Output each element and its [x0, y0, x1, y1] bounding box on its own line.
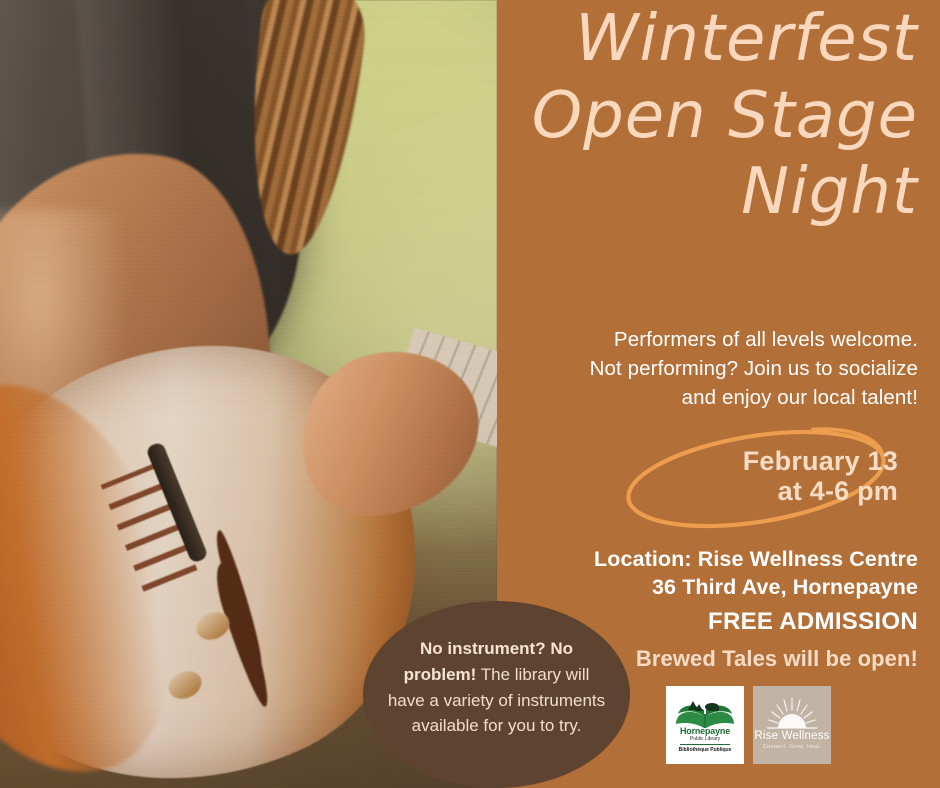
library-divider: [680, 744, 730, 745]
event-poster: Winterfest Open Stage Night Performers o…: [0, 0, 940, 788]
poster-title: Winterfest Open Stage Night: [498, 8, 918, 224]
blurb-line-2: Not performing? Join us to socialize: [518, 354, 918, 383]
wellness-tagline: Connect. Grow. Heal.: [753, 744, 831, 750]
location-line-1: Location: Rise Wellness Centre: [508, 546, 918, 574]
sponsor-logos: Hornepayne Public Library Bibliothèque P…: [666, 686, 918, 764]
rise-wellness-logo: Rise Wellness Connect. Grow. Heal.: [753, 686, 831, 764]
event-blurb: Performers of all levels welcome. Not pe…: [518, 325, 918, 412]
blurb-line-1: Performers of all levels welcome.: [518, 325, 918, 354]
title-line-2: Open Stage: [498, 85, 918, 148]
event-location: Location: Rise Wellness Centre 36 Third …: [508, 546, 918, 601]
location-line-2: 36 Third Ave, Hornepayne: [508, 574, 918, 602]
library-subtitle: Public Library: [666, 736, 744, 742]
hornepayne-public-library-logo: Hornepayne Public Library Bibliothèque P…: [666, 686, 744, 764]
library-name: Hornepayne: [666, 726, 744, 736]
instrument-callout-text: No instrument? No problem! The library w…: [385, 636, 609, 753]
event-date-block: February 13 at 4-6 pm: [620, 424, 920, 536]
title-line-3: Night: [498, 161, 918, 224]
library-french-name: Bibliothèque Publique: [666, 747, 744, 753]
date-line-2: at 4-6 pm: [743, 476, 898, 506]
sunburst-icon: [753, 686, 831, 764]
blurb-line-3: and enjoy our local talent!: [518, 383, 918, 412]
date-line-1: February 13: [743, 446, 898, 476]
wellness-name: Rise Wellness: [753, 730, 831, 742]
event-date-text: February 13 at 4-6 pm: [743, 446, 898, 506]
title-line-1: Winterfest: [498, 8, 918, 71]
instrument-callout: No instrument? No problem! The library w…: [363, 601, 630, 788]
